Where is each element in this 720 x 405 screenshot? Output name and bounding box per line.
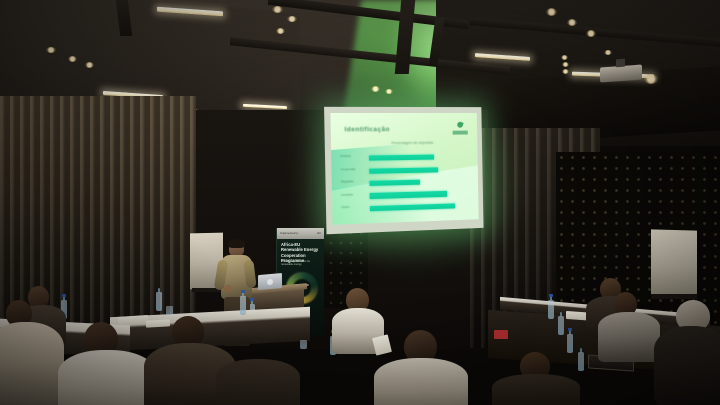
water-bottle-6 [558,316,564,335]
chart-bar-label: Outros [341,206,349,209]
downlight-15 [562,62,569,67]
downlight-16 [562,69,569,74]
presenter-right-arm [243,259,256,288]
aper-logo-icon [452,122,467,135]
table-microphone [584,352,586,362]
downlight-8 [276,28,285,34]
banner-implemented-by: Implemented by [280,232,298,235]
downlight-6 [272,6,283,13]
ceiling-projector [600,65,642,83]
chart-bar [369,155,434,161]
downlight-1 [46,47,56,53]
slide-subtitle: Percentagem de respostas [391,141,433,145]
chart-bar [370,191,447,198]
banner-top-strip: Implemented by EU [277,228,324,239]
audience-person-10 [660,300,720,405]
audience-person-7 [380,330,458,405]
presenter-laptop [258,273,282,290]
audience-body [58,350,156,405]
water-bottle-3 [240,296,246,315]
presenter-hair [228,239,245,248]
banner-eu-mark: EU [317,232,321,235]
chart-bar-label: Consumidor [341,168,356,171]
conference-room-photo: Identificação Percentagem de respostas P… [0,0,720,405]
audience-person-4 [150,316,226,405]
projection-screen-surface: Identificação Percentagem de respostas P… [330,113,478,225]
red-folder [494,330,508,339]
water-bottle-2 [156,292,162,311]
downlight-3 [85,62,94,68]
audience-body [0,322,64,405]
logo-wordmark [452,131,467,134]
slide-title: Identificação [344,126,389,133]
downlight-9 [371,86,380,92]
audience-body [598,312,660,362]
chart-bar [370,167,439,174]
chart-bar [370,203,455,211]
water-bottle-5 [548,300,554,319]
flipchart-right [651,229,697,296]
audience-person-5 [222,334,292,405]
downlight-17 [604,50,612,55]
chart-bar-label: Investidor [341,193,353,196]
audience-person-9 [602,292,658,356]
chart-bar-label: Regulador [341,181,354,184]
downlight-11 [546,8,557,16]
downlight-2 [68,56,77,62]
projection-screen: Identificação Percentagem de respostas P… [324,107,483,234]
chart-bar-label: Produtor [340,155,351,158]
audience-body [374,358,468,405]
presenter-hand [224,285,232,292]
slide-bar-chart: ProdutorConsumidorReguladorInvestidorOut… [340,151,474,216]
audience-person-2 [0,300,58,405]
downlight-14 [561,55,568,60]
audience-person-3 [62,322,148,405]
drinking-glass-1 [166,306,173,315]
logo-leaf-shape [456,121,463,128]
downlight-10 [385,89,393,94]
audience-body [654,326,720,405]
chart-bar [370,180,420,186]
audience-person-11 [498,352,572,405]
audience-body [216,359,300,405]
banner-subheading: Creating opportunities for renewable ene… [281,260,321,267]
downlight-13 [586,30,596,37]
drinking-glass-2 [300,340,307,349]
audience-body [492,374,580,405]
downlight-7 [287,16,297,22]
spotlight-head [644,74,658,84]
downlight-12 [567,19,577,26]
water-bottle-7 [567,334,573,353]
